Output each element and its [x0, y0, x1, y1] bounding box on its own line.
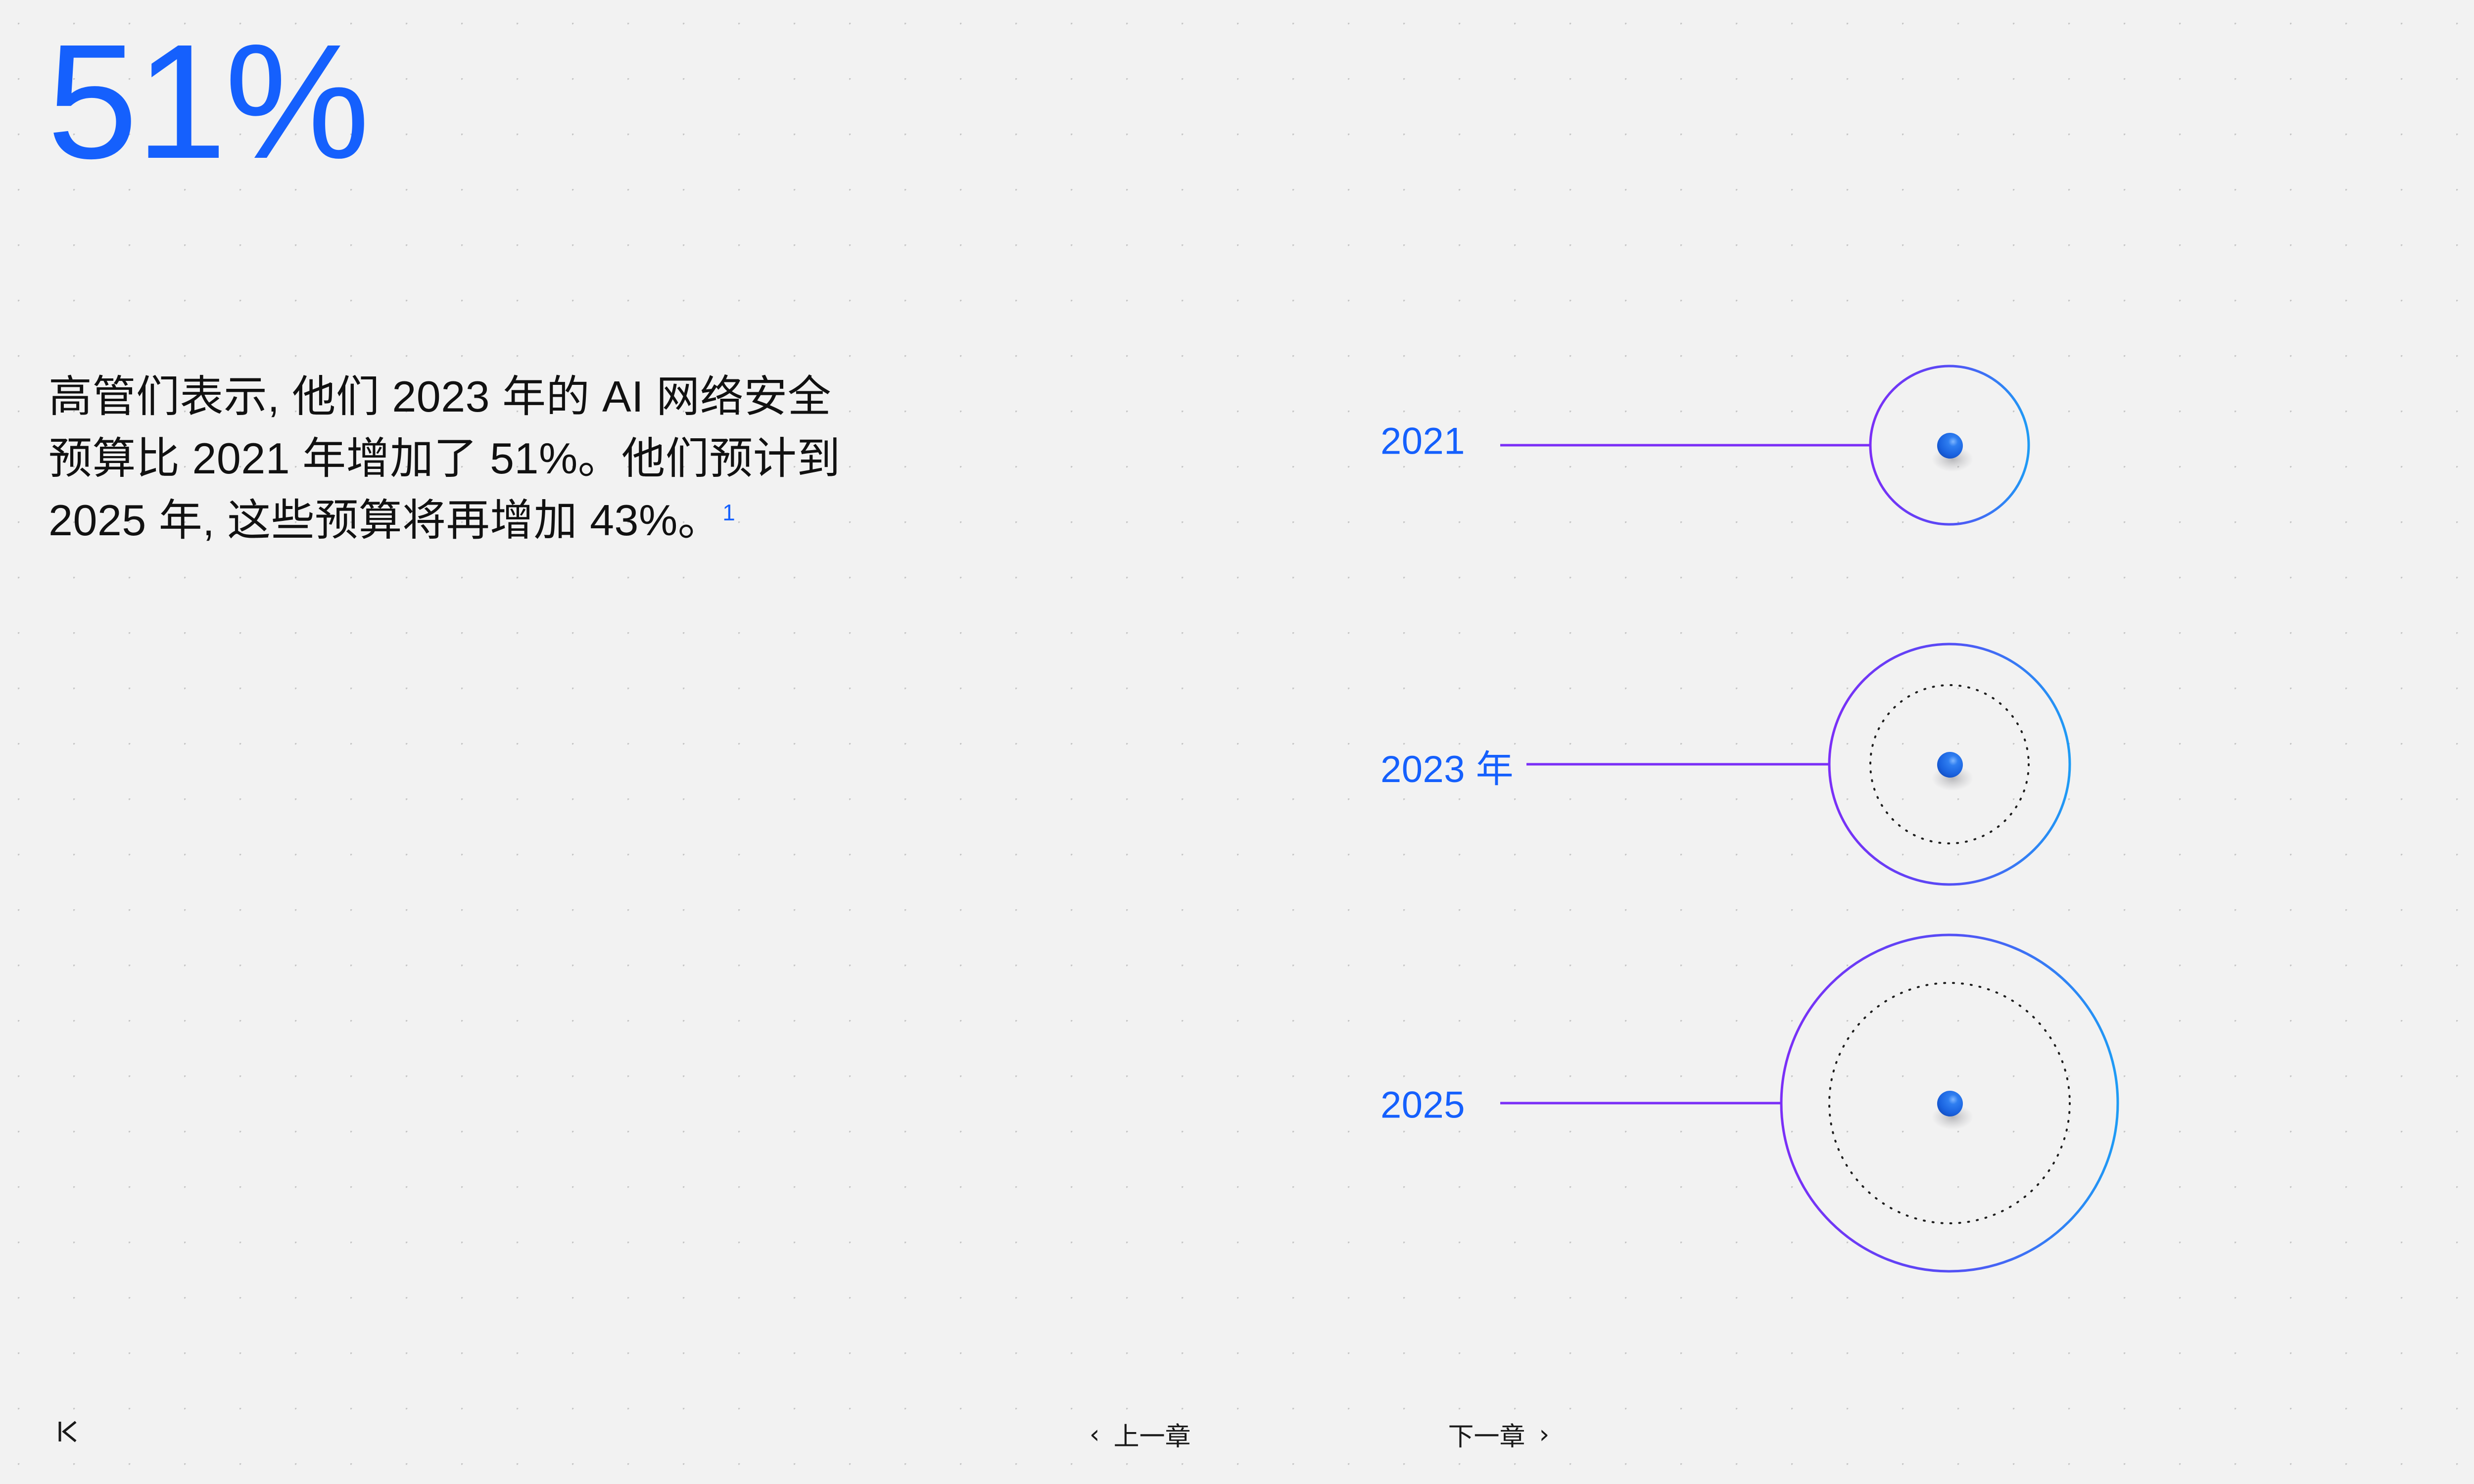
sphere-shadow-2023 — [1932, 765, 1973, 791]
body-paragraph-text: 高管们表示, 他们 2023 年的 AI 网络安全预算比 2021 年增加了 5… — [48, 372, 841, 545]
chevron-left-icon: ‹ — [1090, 1422, 1100, 1447]
reference-ring-2025 — [1829, 983, 2070, 1223]
chevron-right-icon: › — [1539, 1422, 1550, 1447]
center-sphere-2025 — [1937, 1091, 1963, 1116]
bubble-label-2021: 2021 — [1380, 420, 1465, 463]
footer-bar: ‹ 上一章 下一章 › 8 — [0, 1395, 2474, 1484]
next-chapter-button[interactable]: 下一章 › — [1448, 1416, 1550, 1453]
prev-chapter-button[interactable]: ‹ 上一章 — [1090, 1416, 1191, 1453]
reference-ring-2023 — [1870, 685, 2029, 843]
bubble-label-2025: 2025 — [1380, 1084, 1465, 1127]
bubble-group-2023 — [1526, 644, 2070, 884]
bubble-group-2025 — [1500, 935, 2118, 1271]
center-sphere-2021 — [1937, 433, 1963, 459]
sphere-shadow-2025 — [1932, 1104, 1973, 1130]
sphere-shadow-2021 — [1932, 446, 1973, 472]
slide-canvas: 51% 高管们表示, 他们 2023 年的 AI 网络安全预算比 2021 年增… — [0, 0, 2474, 1484]
bubble-label-2023: 2023 年 — [1380, 739, 1514, 793]
bubble-group-2021 — [1500, 366, 2029, 524]
chapter-nav: ‹ 上一章 下一章 › — [0, 1416, 2474, 1453]
prev-chapter-label: 上一章 — [1113, 1416, 1190, 1453]
next-chapter-label: 下一章 — [1448, 1416, 1525, 1453]
footnote-marker: 1 — [722, 500, 735, 525]
page-headline-stat: 51% — [47, 20, 368, 183]
outer-ring-2023 — [1829, 644, 2070, 884]
bubble-growth-diagram — [0, 0, 2474, 1484]
body-paragraph: 高管们表示, 他们 2023 年的 AI 网络安全预算比 2021 年增加了 5… — [48, 366, 860, 552]
center-sphere-2023 — [1937, 752, 1963, 778]
outer-ring-2021 — [1870, 366, 2029, 524]
outer-ring-2025 — [1781, 935, 2118, 1271]
